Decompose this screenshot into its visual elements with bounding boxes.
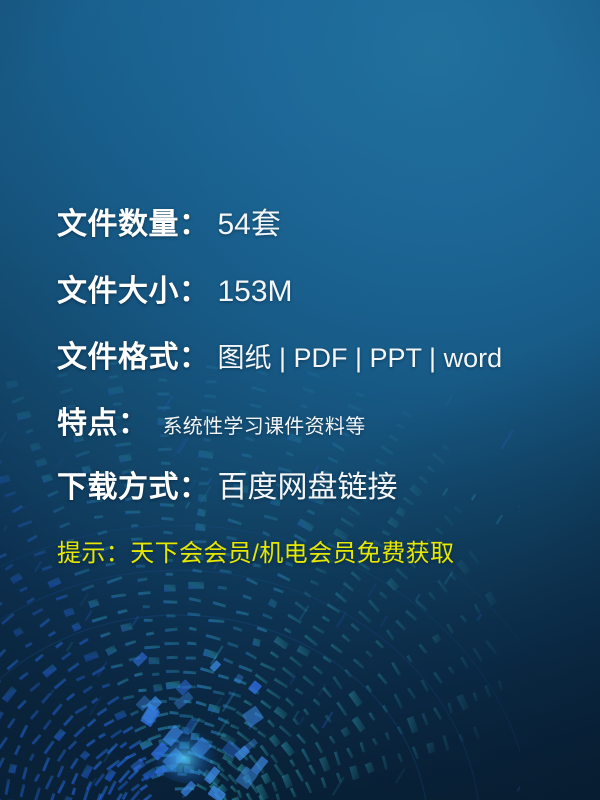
value-file-size: 153M bbox=[218, 272, 293, 313]
row-download-method: 下载方式： 百度网盘链接 bbox=[57, 468, 580, 509]
label-features: 特点： bbox=[57, 404, 149, 445]
label-file-count: 文件数量： bbox=[57, 205, 210, 246]
value-file-count: 54套 bbox=[218, 205, 281, 246]
label-download-method: 下载方式： bbox=[57, 468, 210, 509]
membership-hint: 提示：天下会会员/机电会员免费获取 bbox=[57, 533, 580, 568]
row-features: 特点： 系统性学习课件资料等 bbox=[57, 404, 580, 445]
label-file-size: 文件大小： bbox=[57, 272, 210, 313]
row-file-format: 文件格式： 图纸 | PDF | PPT | word bbox=[57, 338, 580, 379]
row-file-count: 文件数量： 54套 bbox=[57, 205, 580, 246]
info-card: 文件数量： 54套 文件大小： 153M 文件格式： 图纸 | PDF | PP… bbox=[0, 0, 600, 800]
info-list: 文件数量： 54套 文件大小： 153M 文件格式： 图纸 | PDF | PP… bbox=[57, 205, 580, 568]
label-file-format: 文件格式： bbox=[57, 338, 210, 379]
value-features: 系统性学习课件资料等 bbox=[163, 414, 366, 441]
value-download-method: 百度网盘链接 bbox=[218, 468, 398, 509]
value-file-format: 图纸 | PDF | PPT | word bbox=[218, 340, 503, 376]
row-file-size: 文件大小： 153M bbox=[57, 272, 580, 313]
